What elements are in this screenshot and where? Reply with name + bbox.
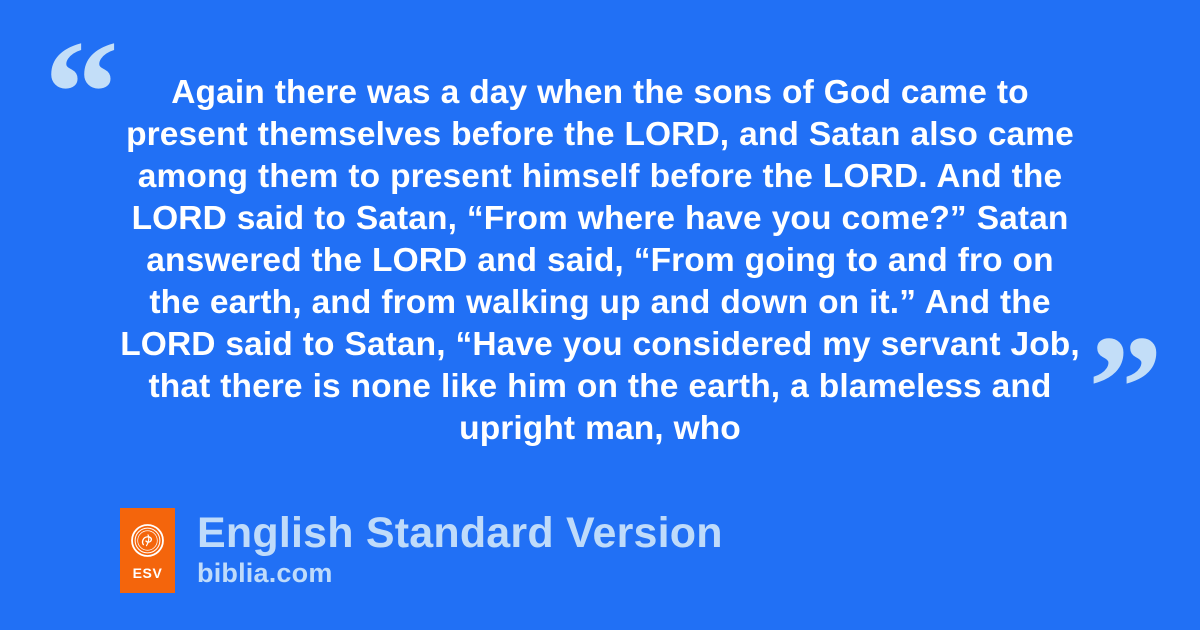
open-quote-icon: “ bbox=[44, 18, 117, 168]
footer-attribution: ESV English Standard Version biblia.com bbox=[120, 508, 723, 593]
footer-text-group: English Standard Version biblia.com bbox=[197, 508, 723, 588]
bible-version-title: English Standard Version bbox=[197, 510, 723, 556]
quote-text: Again there was a day when the sons of G… bbox=[120, 72, 1080, 450]
quote-block: Again there was a day when the sons of G… bbox=[120, 72, 1080, 450]
close-quote-icon: ” bbox=[1088, 313, 1161, 463]
site-url-label: biblia.com bbox=[197, 558, 723, 588]
esv-seal-icon bbox=[131, 524, 164, 557]
esv-abbreviation-label: ESV bbox=[133, 566, 163, 580]
esv-logo-badge: ESV bbox=[120, 508, 175, 593]
quote-card: “ Again there was a day when the sons of… bbox=[0, 0, 1200, 630]
